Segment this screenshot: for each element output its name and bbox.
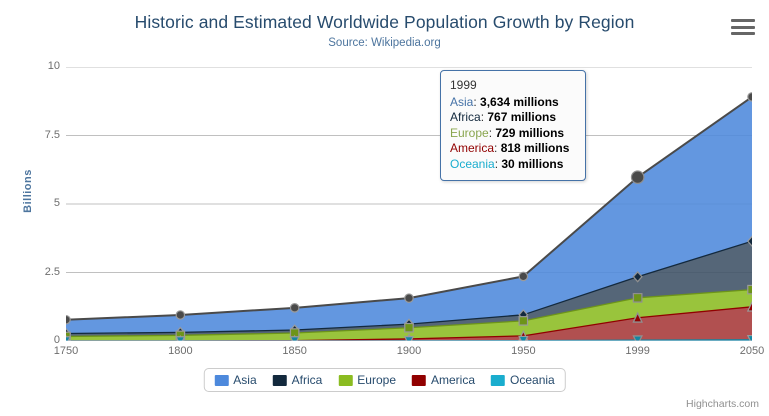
x-tick-label: 1750 xyxy=(54,345,78,357)
legend-swatch-europe xyxy=(338,375,352,386)
tooltip-series-value: 30 millions xyxy=(501,157,563,171)
x-tick-label: 1900 xyxy=(397,345,421,357)
marker-europe[interactable] xyxy=(748,285,752,293)
legend-label: America xyxy=(431,373,475,387)
legend-swatch-oceania xyxy=(491,375,505,386)
tooltip-series-name: Africa xyxy=(450,110,481,124)
tooltip-row: America: 818 millions xyxy=(450,141,576,157)
x-tick-label: 1999 xyxy=(625,345,649,357)
series-areas xyxy=(66,97,752,341)
legend-item-europe[interactable]: Europe xyxy=(338,373,396,387)
chart-legend: AsiaAfricaEuropeAmericaOceania xyxy=(203,368,565,392)
hamburger-bar xyxy=(731,32,755,35)
marker-hover-asia[interactable] xyxy=(631,171,643,183)
legend-label: Oceania xyxy=(510,373,555,387)
tooltip-series-value: 818 millions xyxy=(501,141,570,155)
marker-oceania[interactable] xyxy=(405,337,413,341)
marker-asia[interactable] xyxy=(748,93,752,101)
x-tick-label: 1950 xyxy=(511,345,535,357)
legend-item-africa[interactable]: Africa xyxy=(273,373,323,387)
tooltip-separator: : xyxy=(494,141,501,155)
tooltip-separator: : xyxy=(473,95,480,109)
chart-title: Historic and Estimated Worldwide Populat… xyxy=(0,12,769,33)
legend-item-america[interactable]: America xyxy=(412,373,475,387)
marker-europe[interactable] xyxy=(405,324,413,332)
legend-item-oceania[interactable]: Oceania xyxy=(491,373,555,387)
plot-area xyxy=(66,67,752,341)
tooltip-series-name: Europe xyxy=(450,126,489,140)
x-tick-label: 1850 xyxy=(282,345,306,357)
marker-asia[interactable] xyxy=(290,304,298,312)
y-tick-label: 10 xyxy=(20,61,60,72)
tooltip-series-value: 3,634 millions xyxy=(480,95,559,109)
x-tick-label: 2050 xyxy=(740,345,764,357)
marker-asia[interactable] xyxy=(519,272,527,280)
hamburger-bar xyxy=(731,19,755,22)
y-tick-label: 2.5 xyxy=(20,267,60,278)
tooltip-series-name: Asia xyxy=(450,95,473,109)
marker-hover-europe[interactable] xyxy=(633,294,641,302)
legend-item-asia[interactable]: Asia xyxy=(214,373,256,387)
tooltip-row: Asia: 3,634 millions xyxy=(450,95,576,111)
tooltip-header: 1999 xyxy=(450,78,576,94)
hamburger-menu-icon[interactable] xyxy=(731,17,755,37)
tooltip-series-value: 729 millions xyxy=(495,126,564,140)
x-tick-label: 1800 xyxy=(168,345,192,357)
tooltip-row: Africa: 767 millions xyxy=(450,110,576,126)
y-tick-label: 7.5 xyxy=(20,130,60,141)
tooltip-rows: Asia: 3,634 millionsAfrica: 767 millions… xyxy=(450,95,576,173)
chart-tooltip: 1999 Asia: 3,634 millionsAfrica: 767 mil… xyxy=(440,70,586,181)
marker-asia[interactable] xyxy=(176,311,184,319)
legend-label: Europe xyxy=(357,373,396,387)
tooltip-series-name: Oceania xyxy=(450,157,495,171)
tooltip-series-value: 767 millions xyxy=(487,110,556,124)
highcharts-area-chart: Historic and Estimated Worldwide Populat… xyxy=(0,0,769,416)
marker-oceania[interactable] xyxy=(519,336,527,341)
highcharts-credits[interactable]: Highcharts.com xyxy=(686,398,759,410)
legend-swatch-africa xyxy=(273,375,287,386)
marker-asia[interactable] xyxy=(405,294,413,302)
marker-asia[interactable] xyxy=(66,316,70,324)
marker-europe[interactable] xyxy=(519,317,527,325)
legend-swatch-asia xyxy=(214,375,228,386)
legend-label: Asia xyxy=(233,373,256,387)
chart-subtitle: Source: Wikipedia.org xyxy=(0,37,769,49)
legend-swatch-america xyxy=(412,375,426,386)
y-tick-label: 5 xyxy=(20,198,60,209)
marker-oceania[interactable] xyxy=(290,337,298,341)
x-axis: 1750180018501900195019992050 xyxy=(66,345,752,361)
plot-svg xyxy=(66,67,752,341)
tooltip-series-name: America xyxy=(450,141,494,155)
hamburger-bar xyxy=(731,26,755,29)
tooltip-row: Oceania: 30 millions xyxy=(450,157,576,173)
tooltip-row: Europe: 729 millions xyxy=(450,126,576,142)
marker-oceania[interactable] xyxy=(176,337,184,341)
legend-label: Africa xyxy=(292,373,323,387)
